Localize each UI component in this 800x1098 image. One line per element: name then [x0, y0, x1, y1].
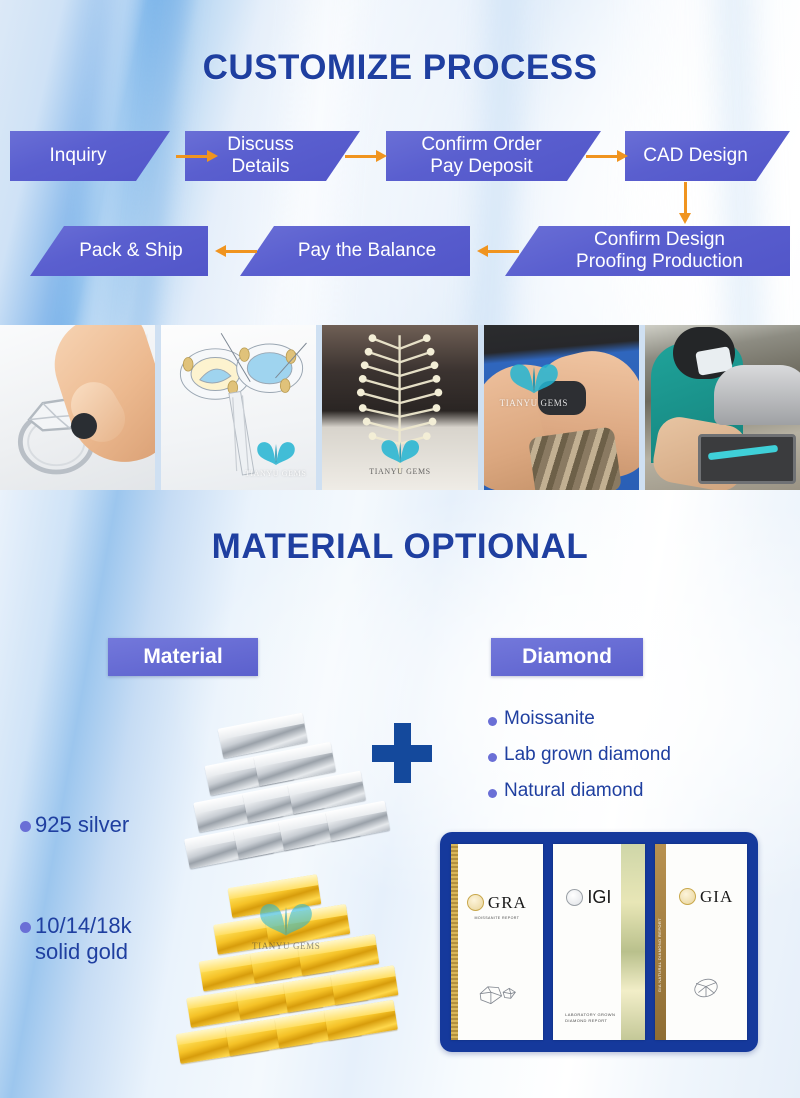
list-item-label: Lab grown diamond	[504, 744, 671, 766]
arrow-right-icon	[586, 146, 628, 166]
cert-gem-illustration	[655, 975, 747, 1040]
list-item-label: Moissanite	[504, 708, 595, 730]
wax-tree-photo: TIANYU GEMS	[322, 325, 477, 490]
material-optional-title: MATERIAL OPTIONAL	[0, 527, 800, 567]
flow-step-label: Confirm Design Proofing Production	[570, 229, 749, 273]
list-item[interactable]: Lab grown diamond	[488, 744, 778, 766]
bullet-dot-icon	[488, 753, 497, 762]
flow-step-label: Pack & Ship	[73, 240, 189, 262]
bullet-dot-icon	[488, 789, 497, 798]
flow-step-label: Pay the Balance	[292, 240, 442, 262]
arrow-left-icon	[477, 241, 519, 261]
arrow-right-icon	[345, 146, 387, 166]
material-pill-label: Material	[143, 645, 222, 669]
diamond-options-list: Moissanite Lab grown diamond Natural dia…	[488, 708, 778, 816]
flow-step-pay-balance[interactable]: Pay the Balance	[240, 226, 470, 276]
cert-brand-label: GRA	[488, 893, 527, 913]
cert-brand-row: GIA	[665, 887, 747, 907]
list-item-label: 925 silver	[35, 812, 129, 837]
igi-seal-icon	[566, 889, 583, 906]
cert-side-image	[621, 844, 645, 1040]
bullet-dot-icon	[20, 821, 31, 832]
certificate-gra[interactable]: GRA MOISSANITE REPORT	[451, 844, 543, 1040]
bullet-dot-icon	[488, 717, 497, 726]
flow-step-confirm-design[interactable]: Confirm Design Proofing Production	[505, 226, 790, 276]
customize-process-title: CUSTOMIZE PROCESS	[0, 48, 800, 88]
process-photo-strip: TIANYU GEMS	[0, 325, 800, 490]
certificates-panel: GRA MOISSANITE REPORT	[440, 832, 758, 1052]
flow-step-confirm-order[interactable]: Confirm Order Pay Deposit	[386, 131, 601, 181]
hand-setting-photo: TIANYU GEMS	[484, 325, 639, 490]
flow-step-label: Discuss Details	[221, 134, 300, 178]
cert-brand-label: GIA	[700, 887, 733, 907]
cert-gem-illustration	[451, 983, 543, 1040]
ring-sketch-photo	[0, 325, 155, 490]
cert-spine-text: GIA NATURAL DIAMOND REPORT	[657, 918, 662, 992]
cert-spine: GIA NATURAL DIAMOND REPORT	[655, 844, 666, 1040]
list-item-label: 10/14/18k solid gold	[35, 913, 132, 964]
gia-seal-icon	[679, 888, 696, 905]
list-item[interactable]: Natural diamond	[488, 780, 778, 802]
arrow-down-icon	[675, 182, 695, 224]
certificate-igi[interactable]: IGI LABORATORY GROWN DIAMOND REPORT	[553, 844, 645, 1040]
bullet-dot-icon	[20, 922, 31, 933]
gold-bars-image	[164, 864, 411, 1086]
cert-brand-label: IGI	[587, 887, 611, 908]
certificate-gia[interactable]: GIA NATURAL DIAMOND REPORT GIA	[655, 844, 747, 1040]
gra-seal-icon	[467, 894, 484, 911]
cert-spine	[451, 844, 458, 1040]
diamond-pill[interactable]: Diamond	[491, 638, 643, 676]
diamond-pill-label: Diamond	[522, 645, 612, 669]
cert-brand-row: IGI	[553, 887, 625, 908]
arrow-left-icon	[215, 241, 257, 261]
page-root: CUSTOMIZE PROCESS Inquiry Discuss Detail…	[0, 0, 800, 1098]
list-item-label: Natural diamond	[504, 780, 643, 802]
material-pill[interactable]: Material	[108, 638, 258, 676]
flow-step-label: CAD Design	[637, 145, 754, 167]
arrow-right-icon	[176, 146, 218, 166]
list-item[interactable]: Moissanite	[488, 708, 778, 730]
flow-step-label: Inquiry	[43, 145, 112, 167]
cert-brand-row: GRA	[451, 893, 543, 913]
flow-step-label: Confirm Order Pay Deposit	[415, 134, 547, 178]
jeweler-bench-photo	[645, 325, 800, 490]
cad-design-photo: TIANYU GEMS	[161, 325, 316, 490]
